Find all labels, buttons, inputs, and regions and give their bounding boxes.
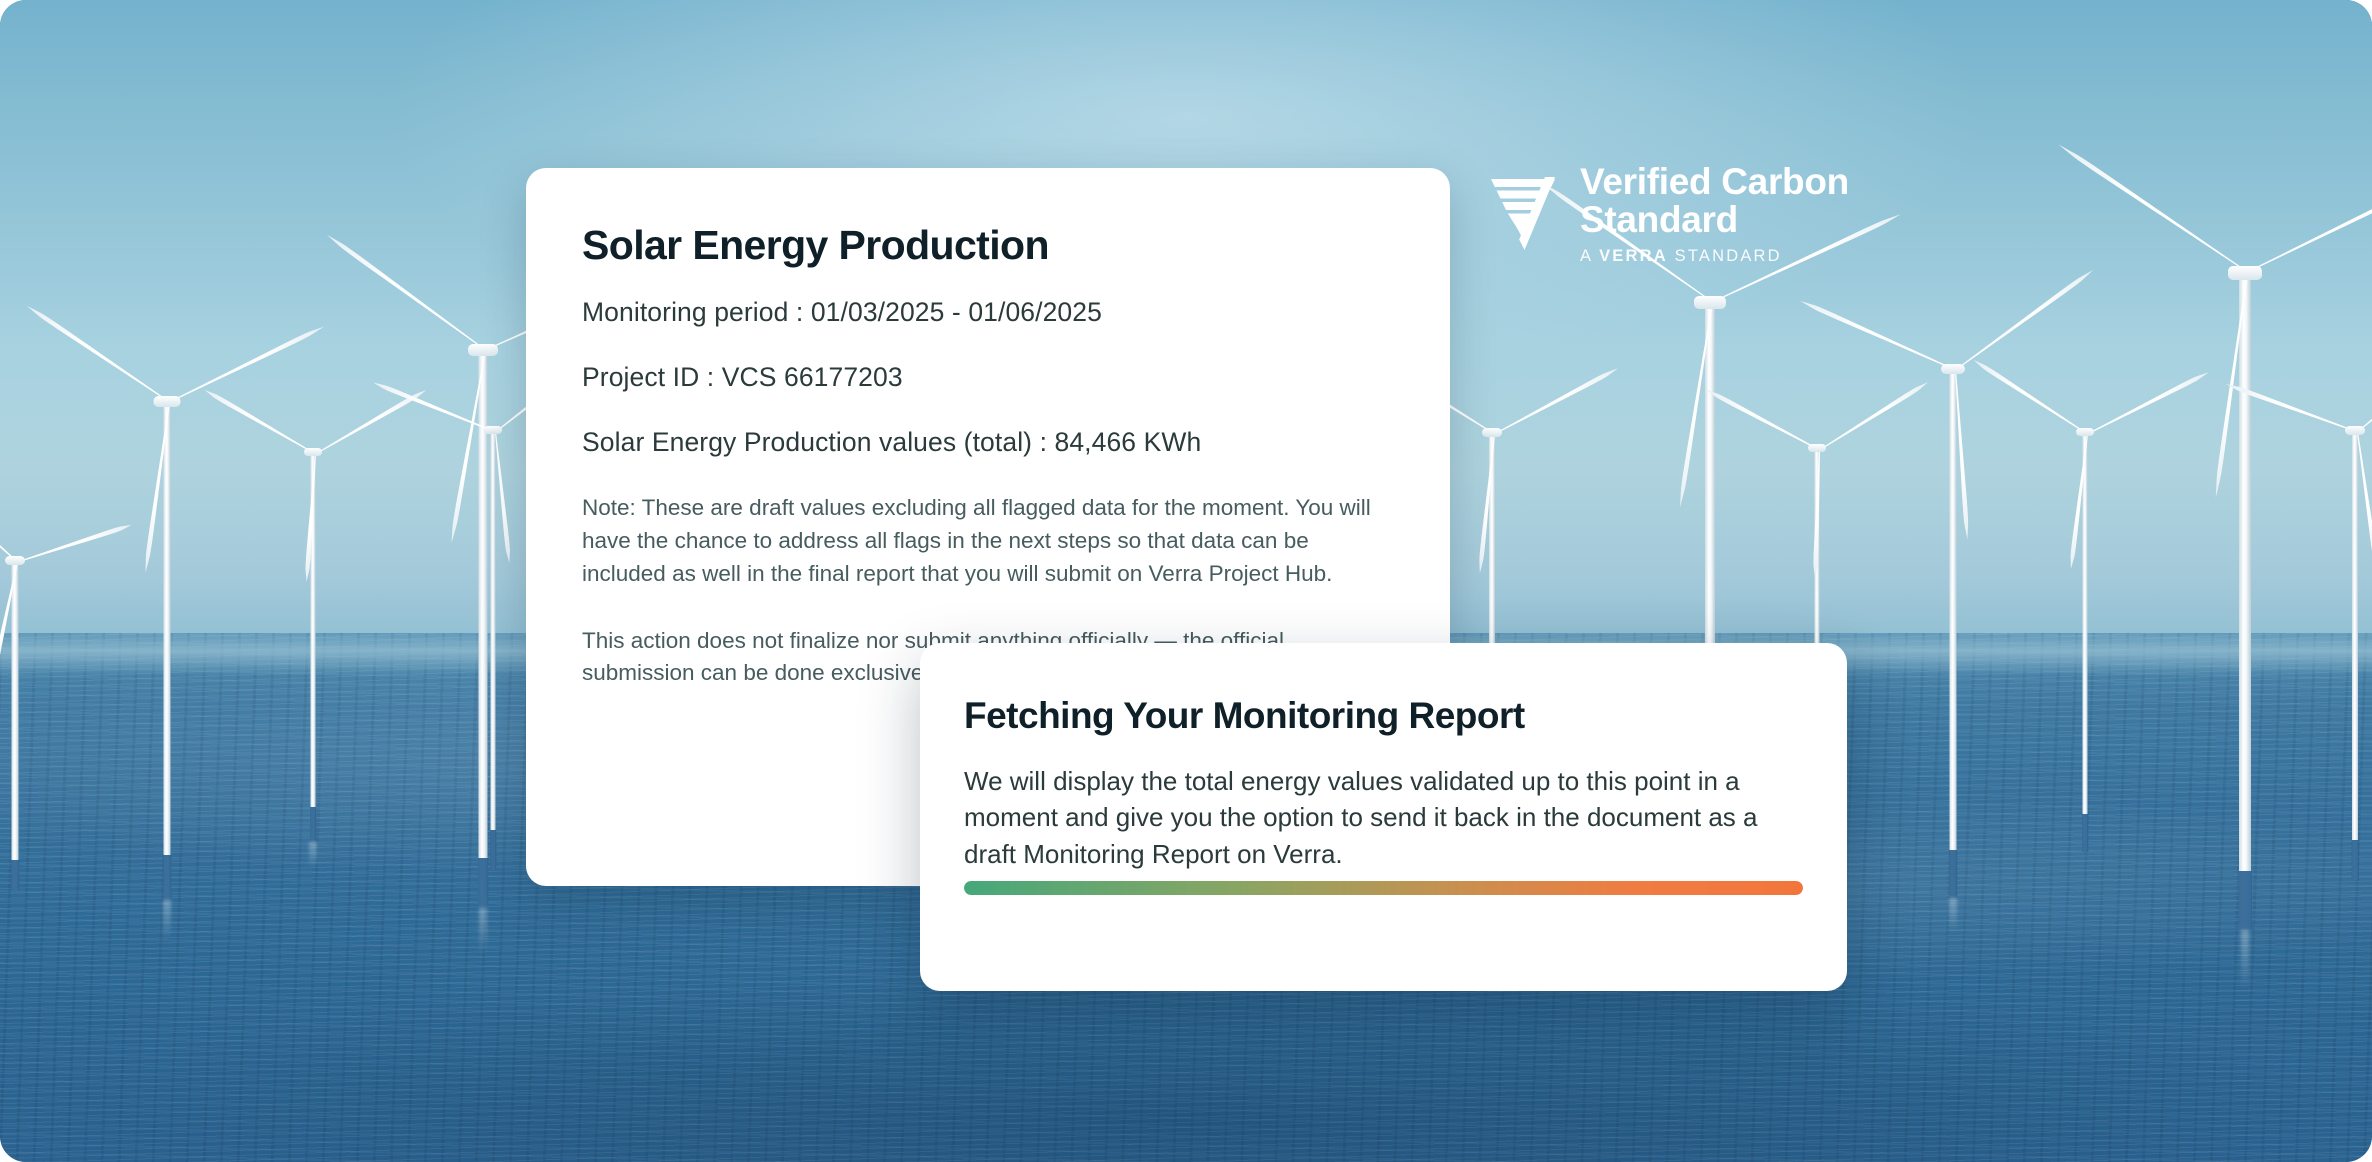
turbine-tower xyxy=(2352,430,2358,880)
turbine-nacelle xyxy=(1694,296,1726,309)
wind-turbine xyxy=(1878,368,2028,898)
page-title: Solar Energy Production xyxy=(582,222,1394,269)
draft-values-note: Note: These are draft values excluding a… xyxy=(582,492,1394,591)
fetching-report-modal: Fetching Your Monitoring Report We will … xyxy=(920,643,1847,991)
wind-turbine xyxy=(2030,432,2140,852)
turbine-nacelle xyxy=(1808,444,1826,452)
verra-logo: Verified Carbon Standard A VERRA STANDAR… xyxy=(1488,163,1849,265)
turbine-tower xyxy=(2083,432,2088,852)
wind-turbine xyxy=(2300,430,2372,880)
turbine-tower xyxy=(491,430,496,870)
verra-tagline-prefix: A xyxy=(1580,247,1599,265)
verra-line-2: Standard xyxy=(1580,201,1849,239)
turbine-tower xyxy=(2239,270,2251,930)
turbine-reflection xyxy=(1949,898,1957,932)
turbine-nacelle xyxy=(468,344,498,356)
app-stage: Verified Carbon Standard A VERRA STANDAR… xyxy=(0,0,2372,1162)
verra-line-1: Verified Carbon xyxy=(1580,163,1849,201)
turbine-base xyxy=(2082,814,2088,852)
verra-tagline-brand: VERRA xyxy=(1599,247,1668,265)
turbine-base xyxy=(2352,840,2359,881)
turbine-nacelle xyxy=(2345,426,2365,435)
turbine-nacelle xyxy=(484,426,502,434)
turbine-reflection xyxy=(479,908,487,954)
turbine-base xyxy=(163,855,171,900)
verra-tagline-suffix: STANDARD xyxy=(1668,247,1782,265)
turbine-reflection xyxy=(163,900,171,940)
turbine-nacelle xyxy=(154,396,181,407)
progress-bar xyxy=(964,881,1803,895)
turbine-base xyxy=(490,830,496,870)
turbine-blade xyxy=(493,432,512,564)
turbine-nacelle xyxy=(1482,428,1502,437)
project-id-text: Project ID : VCS 66177203 xyxy=(582,362,1394,393)
turbine-nacelle xyxy=(1941,364,1965,374)
wind-turbine xyxy=(92,400,242,900)
modal-body-text: We will display the total energy values … xyxy=(964,763,1803,872)
turbine-tower xyxy=(164,400,171,900)
turbine-tower xyxy=(12,560,19,890)
turbine-nacelle xyxy=(5,556,25,565)
total-production-text: Solar Energy Production values (total) :… xyxy=(582,427,1394,458)
turbine-nacelle xyxy=(2076,428,2094,436)
turbine-base xyxy=(310,807,316,842)
wind-turbine xyxy=(0,560,50,890)
turbine-base xyxy=(1949,850,1957,898)
turbine-reflection xyxy=(309,842,317,868)
verra-wordmark: Verified Carbon Standard A VERRA STANDAR… xyxy=(1580,163,1849,265)
verra-tagline: A VERRA STANDARD xyxy=(1580,248,1849,265)
turbine-tower xyxy=(1950,368,1957,898)
turbine-nacelle xyxy=(304,448,322,456)
wind-turbine xyxy=(258,452,368,842)
verra-triangle-check-icon xyxy=(1488,176,1558,252)
turbine-nacelle xyxy=(2228,266,2262,280)
progress-bar-fill xyxy=(964,881,1803,895)
turbine-base xyxy=(2239,871,2252,930)
modal-title: Fetching Your Monitoring Report xyxy=(964,695,1803,737)
turbine-base xyxy=(11,860,19,890)
monitoring-period-text: Monitoring period : 01/03/2025 - 01/06/2… xyxy=(582,297,1394,328)
turbine-reflection xyxy=(2241,930,2249,990)
